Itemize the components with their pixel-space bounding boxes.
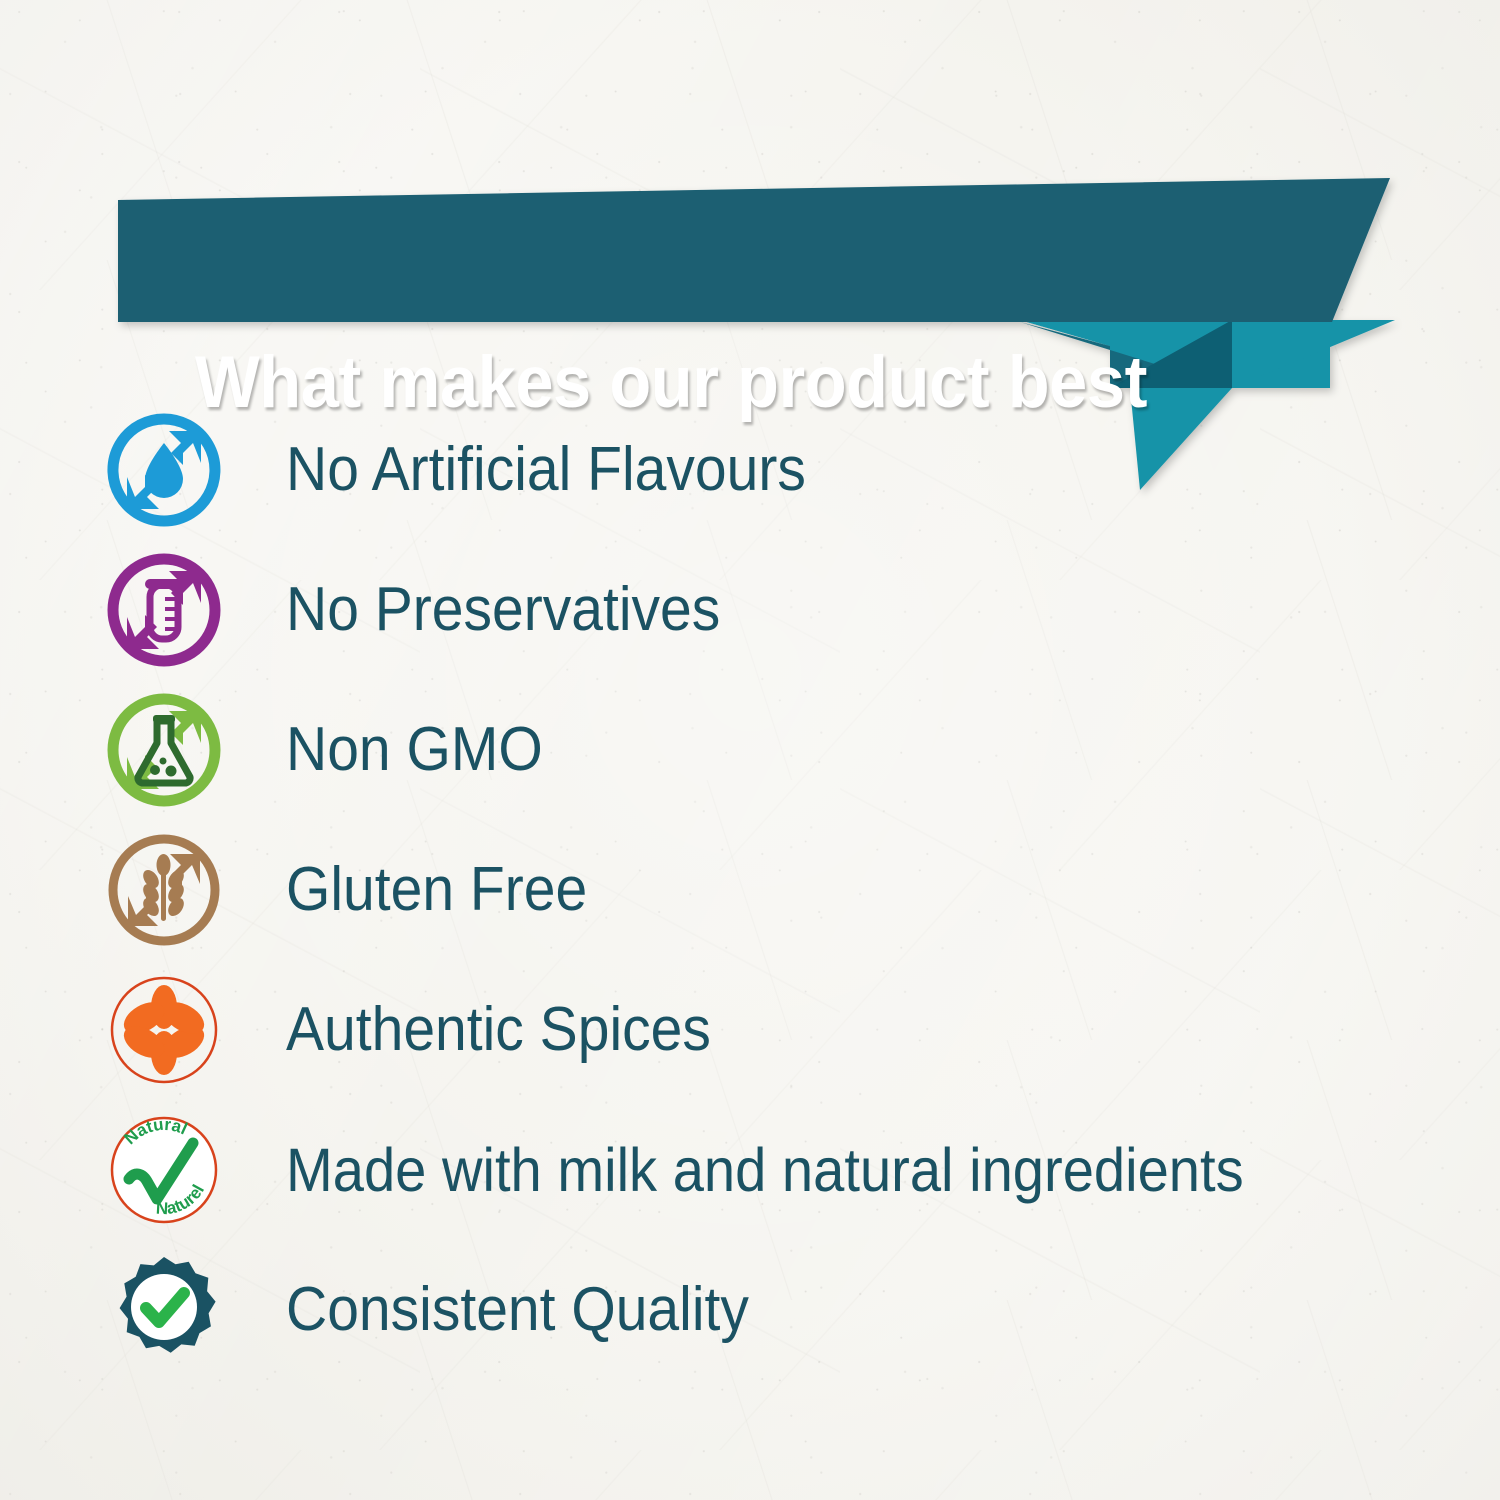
consistent-quality-icon <box>105 1251 223 1369</box>
feature-label: Non GMO <box>286 719 543 781</box>
feature-list: No Artificial Flavours No Preservati <box>0 400 1500 1380</box>
natural-naturel-icon: Natural Naturel <box>105 1111 223 1229</box>
feature-row: Consistent Quality <box>0 1240 1500 1380</box>
feature-label: No Artificial Flavours <box>286 439 806 501</box>
feature-row: Authentic Spices <box>0 960 1500 1100</box>
feature-label: Made with milk and natural ingredients <box>286 1140 1244 1201</box>
feature-row: Non GMO <box>0 680 1500 820</box>
feature-row: Gluten Free <box>0 820 1500 960</box>
gluten-free-icon <box>105 831 223 949</box>
banner-body <box>118 178 1390 322</box>
authentic-spices-icon <box>105 971 223 1089</box>
feature-label: Consistent Quality <box>286 1279 749 1341</box>
feature-row: Natural Naturel Made with milk and natur… <box>0 1100 1500 1240</box>
infographic-page: What makes our product best No Artificia… <box>0 0 1500 1500</box>
non-gmo-icon <box>105 691 223 809</box>
feature-row: No Preservatives <box>0 540 1500 680</box>
no-preservatives-icon <box>105 551 223 669</box>
feature-label: Gluten Free <box>286 859 587 921</box>
feature-label: Authentic Spices <box>286 999 711 1061</box>
feature-row: No Artificial Flavours <box>0 400 1500 540</box>
no-artificial-flavours-icon <box>105 411 223 529</box>
feature-label: No Preservatives <box>286 579 720 641</box>
